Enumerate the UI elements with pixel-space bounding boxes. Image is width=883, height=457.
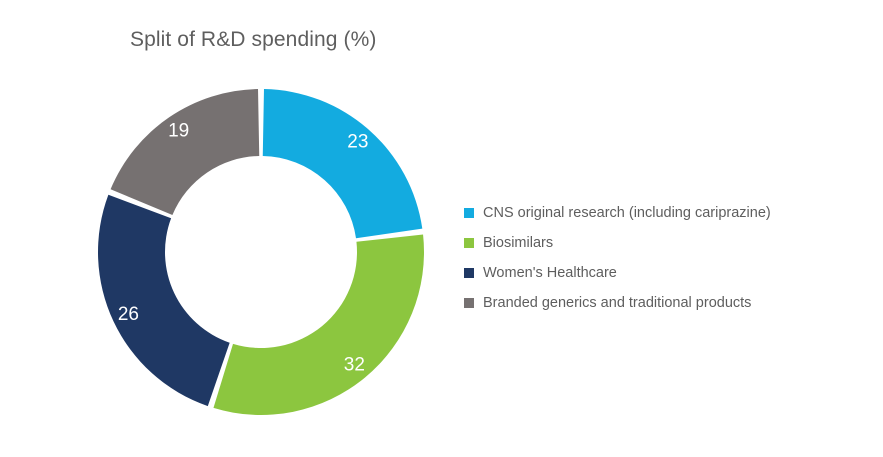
donut-value-label: 26 — [118, 304, 139, 325]
chart-legend: CNS original research (including caripra… — [464, 198, 864, 318]
legend-swatch-icon — [464, 268, 474, 278]
donut-chart-figure: Split of R&D spending (%) 23322619 CNS o… — [0, 0, 883, 457]
donut-value-label: 32 — [344, 354, 365, 375]
donut-value-label: 19 — [168, 120, 189, 141]
legend-item-label: Biosimilars — [483, 236, 553, 251]
legend-item-label: Branded generics and traditional product… — [483, 296, 751, 311]
legend-item-label: Women's Healthcare — [483, 266, 617, 281]
legend-item-womens-healthcare[interactable]: Women's Healthcare — [464, 258, 864, 288]
donut-svg: 23322619 — [78, 69, 444, 435]
legend-swatch-icon — [464, 208, 474, 218]
legend-item-biosimilars[interactable]: Biosimilars — [464, 228, 864, 258]
chart-title: Split of R&D spending (%) — [130, 28, 376, 52]
donut-slice-group — [98, 89, 424, 415]
legend-item-label: CNS original research (including caripra… — [483, 206, 771, 221]
legend-item-branded-generics[interactable]: Branded generics and traditional product… — [464, 288, 864, 318]
legend-item-cns[interactable]: CNS original research (including caripra… — [464, 198, 864, 228]
legend-swatch-icon — [464, 238, 474, 248]
chart-plot-area: 23322619 — [78, 69, 444, 435]
donut-slice[interactable] — [98, 195, 230, 406]
donut-slice[interactable] — [111, 89, 260, 215]
donut-slice[interactable] — [263, 89, 423, 238]
donut-slice[interactable] — [213, 235, 424, 415]
donut-value-label: 23 — [347, 132, 368, 153]
legend-swatch-icon — [464, 298, 474, 308]
